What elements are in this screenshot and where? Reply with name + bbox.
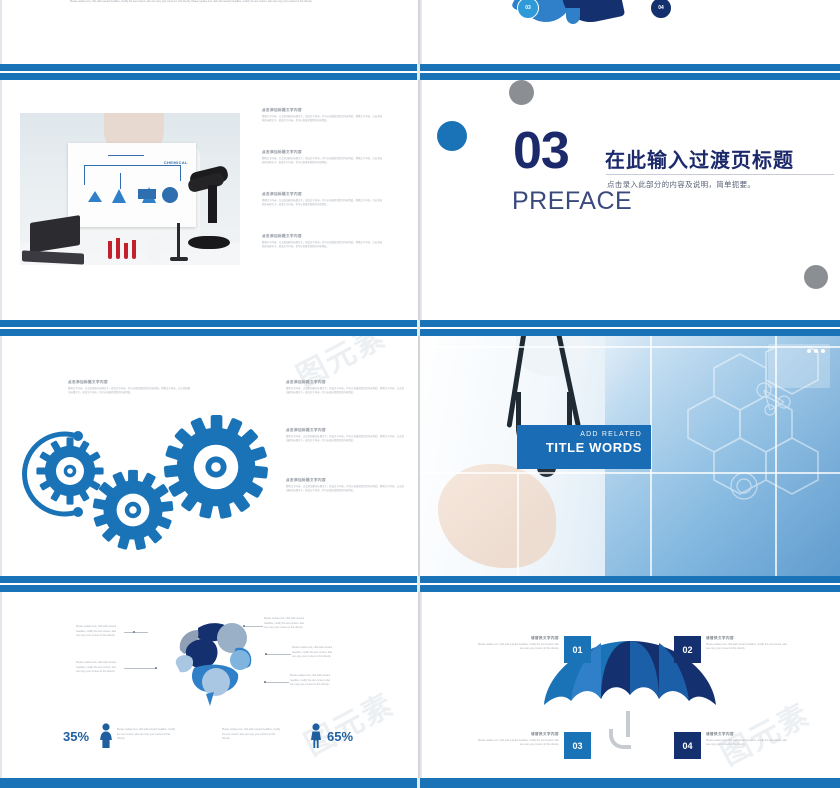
stat-percent-right: 65% [327,729,353,744]
ui-panel-overlay [768,344,830,388]
gear-large-icon [163,414,269,520]
section-subtitle-zh: 点击录入此部分的内容及说明，简单扼要。 [607,179,755,190]
separator-gutter [417,576,420,592]
text-block: 点击添加标题文字内容 替换文字内容，点击添加相关标题文字，修改文字内容，也可以直… [286,380,404,394]
callout-left-top: Please replace text, click add relevant … [76,625,120,639]
slide-left-edge [0,80,2,320]
number-label: 03 [572,741,582,751]
text-block: 点击添加标题文字内容 替换文字内容，点击添加相关标题文字，修改文字内容，也可以直… [68,380,190,394]
leader-dot [133,631,135,633]
slide-thumbnail-preface[interactable]: 03 PREFACE 在此输入过渡页标题 点击录入此部分的内容及说明，简单扼要。 [420,80,840,320]
leader-line [243,626,263,627]
separator-bar-lower [0,329,840,336]
block-title: 点击添加标题文字内容 [286,428,404,433]
title-line-2: TITLE WORDS [517,440,642,455]
block-title: 点击添加标题文字内容 [286,478,404,483]
male-icon [309,723,323,749]
separator-bar-upper [0,320,840,327]
item-title: 请替换文字内容 [477,732,559,737]
window-dots-icon [807,349,825,353]
chemical-label: CHEMICAL [164,160,188,165]
block-title: 点击添加标题文字内容 [262,150,382,155]
umbrella-text-01: 请替换文字内容 Please replace text, click add r… [477,636,559,650]
leader-line [124,632,148,633]
block-title: 点击添加标题文字内容 [286,380,404,385]
item-body: Please replace text, click add relevant … [477,739,559,746]
number-label: 04 [682,741,692,751]
row-separator-2 [0,320,840,336]
leader-line [265,654,291,655]
slide-left-edge [0,0,2,64]
block-body: 替换文字内容，点击添加相关标题文字，修改文字内容，也可以直接复制您的内容到此。替… [262,157,382,164]
text-block: 点击添加标题文字内容 替换文字内容，点击添加相关标题文字，修改文字内容，也可以直… [286,428,404,442]
gear-medium-icon [92,469,174,551]
female-icon [99,723,113,749]
title-line-1: ADD RELATED [517,431,642,438]
block-body: 替换文字内容，点击添加相关标题文字，修改文字内容，也可以直接复制您的内容到此。替… [262,199,382,206]
umbrella-text-04: 请替换文字内容 Please replace text, click add r… [706,732,788,746]
section-word: PREFACE [512,187,632,216]
petal-small-blue [566,8,580,24]
microscope [184,169,230,249]
block-body: 替换文字内容，点击添加相关标题文字，修改文字内容，也可以直接复制您的内容到此。替… [262,241,382,248]
node-circle-04[interactable]: 04 [650,0,672,19]
leader-dot [155,667,157,669]
blue-dot-left-icon [437,121,467,151]
section-title-zh: 在此输入过渡页标题 [605,144,794,173]
callout-right-top: Please replace text, click add relevant … [264,617,308,631]
chemical-diagram-sheet: CHEMICAL [68,143,196,227]
lab-photo: CHEMICAL [20,113,240,265]
item-title: 请替换文字内容 [706,732,788,737]
leader-dot [243,625,245,627]
text-block: 点击添加标题文字内容 替换文字内容，点击添加相关标题文字，修改文字内容，也可以直… [262,108,382,122]
slide-left-edge [0,592,2,788]
beaker [148,238,161,261]
slide-thumbnail-gears[interactable]: 图元素 [0,336,418,576]
separator-gutter [417,320,420,336]
gray-dot-bottom-right-icon [804,265,828,289]
slide-left-edge [0,336,2,576]
row-separator-3 [0,576,840,592]
slide-thumbnail-circular-infographic[interactable]: 03 04 Please replace text, click add rel… [420,0,840,64]
number-label: 01 [572,645,582,655]
number-box-03[interactable]: 03 [564,732,591,759]
leader-line [124,668,157,669]
watermark: 图元素 [295,680,400,764]
number-box-02[interactable]: 02 [674,636,701,663]
block-title: 点击添加标题文字内容 [262,108,382,113]
item-title: 请替换文字内容 [477,636,559,641]
block-body: 替换文字内容，点击添加相关标题文字，修改文字内容，也可以直接复制您的内容到此。替… [286,485,404,492]
bottom-separator-bar [0,778,840,788]
block-title: 点击添加标题文字内容 [262,234,382,239]
leader-dot [264,681,266,683]
title-words-box: ADD RELATED TITLE WORDS [517,425,651,469]
umbrella-text-03: 请替换文字内容 Please replace text, click add r… [477,732,559,746]
title-underline [606,174,834,175]
separator-gutter [417,64,420,80]
text-block: 点击添加标题文字内容 替换文字内容，点击添加相关标题文字，修改文字内容，也可以直… [262,234,382,248]
block-title: 点击添加标题文字内容 [68,380,190,385]
test-tubes [108,237,136,259]
number-box-04[interactable]: 04 [674,732,701,759]
block-body: 替换文字内容，点击添加相关标题文字，修改文字内容，也可以直接复制您的内容到此。替… [262,115,382,122]
separator-gutter [417,778,420,788]
item-body: Please replace text, click add relevant … [706,739,788,746]
slide-thumbnail-lab-photo[interactable]: CHEMICAL 点击添加标题文字内容 替换文字内容，点击添加相关标题文字，修改… [0,80,418,320]
leader-dot [265,653,267,655]
slide-thumbnail-doctor-photo[interactable]: ADD RELATED TITLE WORDS [420,336,840,576]
block-body: 替换文字内容，点击添加相关标题文字，修改文字内容，也可以直接复制您的内容到此。替… [286,387,404,394]
slide-thumbnail-text-tail[interactable]: Please replace text, click add relevant … [0,0,418,64]
brain-infographic-icon [140,608,268,708]
number-label: 02 [682,645,692,655]
item-body: Please replace text, click add relevant … [706,643,788,650]
stat-note-right: Please replace text, click add relevant … [222,728,282,742]
retort-stand [170,223,188,261]
separator-bar-upper [0,64,840,71]
separator-bar-lower [0,73,840,80]
text-block: 点击添加标题文字内容 替换文字内容，点击添加相关标题文字，修改文字内容，也可以直… [262,150,382,164]
slide-thumbnail-umbrella[interactable]: 图元素 请替换文字内容 Please replace text, click a… [420,592,840,788]
separator-bar-lower [0,585,840,592]
callout-right-mid: Please replace text, click add relevant … [292,646,336,660]
node-number: 03 [525,5,531,11]
paragraph-text: Please replace text, click add relevant … [70,0,370,5]
slide-preview-page: Please replace text, click add relevant … [0,0,840,788]
umbrella-hook [609,729,631,749]
leader-line [264,682,289,683]
row-separator-1 [0,64,840,80]
slide-left-edge [420,0,422,64]
item-title: 请替换文字内容 [706,636,788,641]
number-box-01[interactable]: 01 [564,636,591,663]
separator-bar-upper [0,576,840,583]
column-divider [418,0,420,788]
umbrella-text-02: 请替换文字内容 Please replace text, click add r… [706,636,788,650]
item-body: Please replace text, click add relevant … [477,643,559,650]
slide-left-edge [420,592,422,788]
callout-right-bottom: Please replace text, click add relevant … [290,674,334,688]
block-body: 替换文字内容，点击添加相关标题文字，修改文字内容，也可以直接复制您的内容到此。替… [68,387,190,394]
slide-thumbnail-brain[interactable]: 图元素 Please replace text, click add relev… [0,592,418,788]
stat-note-left: Please replace text, click add relevant … [117,728,177,742]
slide-left-edge [420,80,422,320]
block-body: 替换文字内容，点击添加相关标题文字，修改文字内容，也可以直接复制您的内容到此。替… [286,435,404,442]
laptop [22,219,84,263]
text-block: 点击添加标题文字内容 替换文字内容，点击添加相关标题文字，修改文字内容，也可以直… [286,478,404,492]
doctor-photo: ADD RELATED TITLE WORDS [420,336,840,576]
block-title: 点击添加标题文字内容 [262,192,382,197]
text-block: 点击添加标题文字内容 替换文字内容，点击添加相关标题文字，修改文字内容，也可以直… [262,192,382,206]
gray-dot-top-icon [509,80,534,105]
callout-left-bottom: Please replace text, click add relevant … [76,661,120,675]
section-number: 03 [513,130,569,173]
node-number: 04 [658,5,664,11]
stat-percent-left: 35% [63,729,89,744]
